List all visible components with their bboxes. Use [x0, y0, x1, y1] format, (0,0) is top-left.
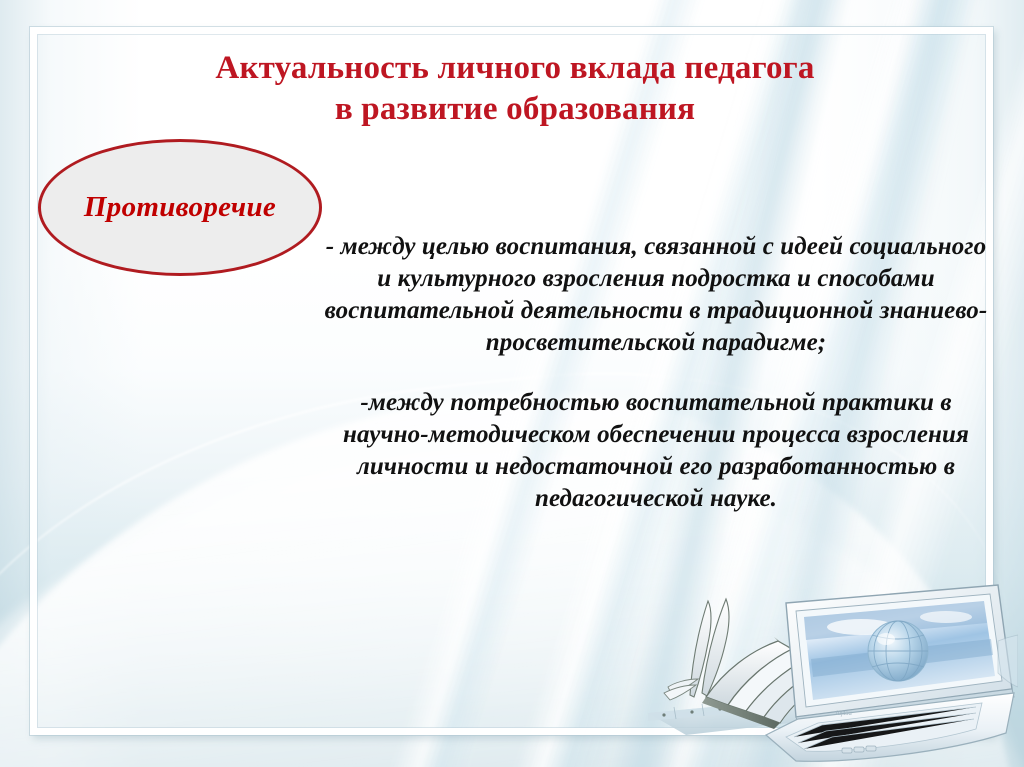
slide-body-text: - между целью воспитания, связанной с ид… — [318, 231, 994, 515]
svg-text:fujitsu: fujitsu — [836, 711, 852, 717]
laptop-and-books-illustration: fujitsu — [646, 567, 1018, 767]
slide-title-line-1: Актуальность личного вклада педагога — [215, 50, 814, 86]
body-paragraph-1: - между целью воспитания, связанной с ид… — [318, 231, 994, 359]
presentation-slide: Актуальность личного вклада педагога в р… — [0, 0, 1024, 767]
slide-title-line-2: в развитие образования — [120, 89, 910, 130]
laptop-and-books-graphic: fujitsu — [646, 567, 1018, 767]
body-paragraph-2: -между потребностью воспитательной практ… — [318, 387, 994, 515]
laptop: fujitsu — [766, 585, 1014, 761]
contradiction-oval-callout: Противоречие — [38, 139, 322, 276]
contradiction-oval-label: Противоречие — [84, 191, 276, 224]
slide-title: Актуальность личного вклада педагога в р… — [120, 48, 910, 130]
